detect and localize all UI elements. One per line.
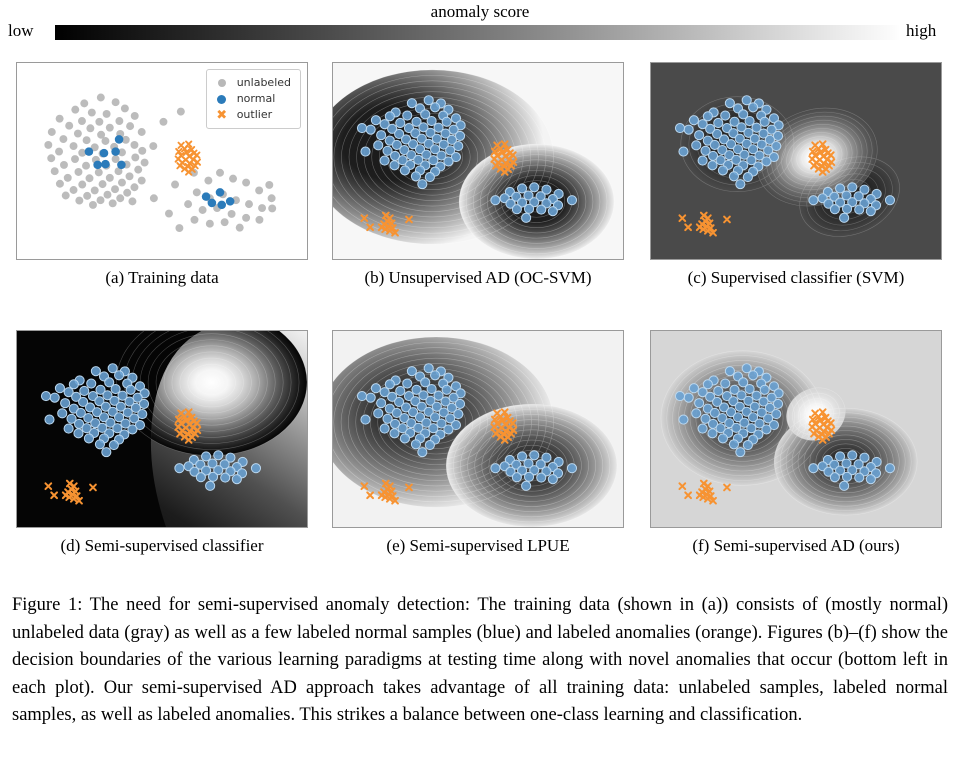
scatter-point (725, 367, 734, 376)
scatter-point (150, 194, 158, 202)
panel-d-semisupervised-classifier (16, 330, 308, 528)
scatter-point (675, 392, 684, 401)
scatter-point (427, 116, 436, 125)
scatter-point (216, 188, 225, 197)
scatter-point (524, 472, 533, 481)
scatter-point (524, 204, 533, 213)
scatter-point (228, 210, 236, 218)
scatter-point (208, 472, 217, 481)
scatter-point (885, 464, 894, 473)
scatter-point (99, 180, 107, 188)
scatter-point (71, 106, 79, 114)
scatter-point (116, 194, 124, 202)
scatter-point (80, 99, 88, 107)
scatter-point (103, 110, 111, 118)
scatter-point (115, 371, 124, 380)
scatter-point (128, 197, 136, 205)
scatter-point (855, 473, 864, 482)
scatter-point (65, 122, 73, 130)
scatter-point (689, 116, 698, 125)
scatter-point (232, 475, 241, 484)
scatter-point (128, 425, 137, 434)
scatter-point (45, 415, 54, 424)
scatter-point (866, 207, 875, 216)
scatter-point (442, 385, 451, 394)
scatter-point (255, 186, 263, 194)
scatter-point (80, 386, 89, 395)
scatter-point (385, 112, 394, 121)
scatter-point (390, 429, 399, 438)
legend-label-normal: normal (237, 91, 276, 107)
scatter-point (265, 181, 273, 189)
scatter-point (106, 124, 114, 132)
scatter-point (242, 179, 250, 187)
scatter-point (684, 125, 693, 134)
scatter-point (245, 200, 253, 208)
panel-b-caption: (b) Unsupervised AD (OC-SVM) (332, 266, 624, 290)
scatter-point (50, 393, 59, 402)
panel-row-top: unlabeled normal ✖ outlier (16, 62, 944, 307)
scatter-point (229, 175, 237, 183)
panel-b-plot (333, 63, 623, 259)
scatter-point (216, 169, 224, 177)
scatter-point (58, 409, 67, 418)
scatter-point (71, 155, 79, 163)
scatter-point (830, 473, 839, 482)
scatter-point (522, 213, 531, 222)
scatter-point (75, 168, 83, 176)
scatter-point (431, 103, 440, 112)
panel-row-bottom: (d) Semi-supervised classifier (e) Semi-… (16, 330, 944, 575)
scatter-point (721, 379, 730, 388)
scatter-point (442, 117, 451, 126)
scatter-point (708, 429, 717, 438)
scatter-point (762, 157, 771, 166)
scatter-point (809, 196, 818, 205)
scatter-point (149, 142, 157, 150)
scatter-point (236, 224, 244, 232)
scatter-point (760, 385, 769, 394)
scatter-point (548, 207, 557, 216)
scatter-point (840, 481, 849, 490)
scatter-point (106, 174, 114, 182)
scatter-point (111, 147, 120, 156)
scatter-point (56, 180, 64, 188)
scatter-point (725, 99, 734, 108)
scatter-point (380, 424, 389, 433)
panel-a-caption: (a) Training data (16, 266, 308, 290)
scatter-point (692, 141, 701, 150)
scatter-point (126, 172, 134, 180)
gray-circle-icon (214, 79, 230, 87)
scatter-point (380, 156, 389, 165)
scatter-point (78, 117, 86, 125)
scatter-point (138, 128, 146, 136)
scatter-point (760, 117, 769, 126)
scatter-point (548, 475, 557, 484)
scatter-point (102, 448, 111, 457)
scatter-point (93, 161, 102, 170)
scatter-point (111, 384, 120, 393)
scatter-point (109, 441, 118, 450)
scatter-point (745, 384, 754, 393)
panel-f-semisupervised-ad (650, 330, 942, 528)
scatter-point (537, 473, 546, 482)
scatter-point (74, 429, 83, 438)
scatter-point (111, 185, 119, 193)
panel-c-caption: (c) Supervised classifier (SVM) (650, 266, 942, 290)
colorbar-high-label: high (906, 21, 936, 41)
scatter-point (361, 147, 370, 156)
scatter-point (743, 173, 752, 182)
scatter-point (159, 118, 167, 126)
panel-e-caption: (e) Semi-supervised LPUE (332, 534, 624, 558)
scatter-point (698, 424, 707, 433)
scatter-point (698, 156, 707, 165)
scatter-point (100, 149, 109, 158)
scatter-point (842, 204, 851, 213)
scatter-point (112, 98, 120, 106)
scatter-point (522, 481, 531, 490)
scatter-point (745, 116, 754, 125)
scatter-point (82, 162, 90, 170)
scatter-point (407, 99, 416, 108)
scatter-point (199, 206, 207, 214)
scatter-point (684, 393, 693, 402)
figure-caption: Figure 1: The need for semi-supervised a… (12, 592, 948, 730)
scatter-point (866, 475, 875, 484)
scatter-point (123, 189, 131, 197)
scatter-point (121, 105, 129, 113)
orange-x-icon: ✖ (214, 109, 230, 122)
scatter-point (762, 425, 771, 434)
scatter-point (138, 147, 146, 155)
scatter-point (196, 473, 205, 482)
scatter-point (255, 216, 263, 224)
scatter-point (131, 112, 139, 120)
scatter-point (95, 440, 104, 449)
panel-e-plot (333, 331, 623, 527)
scatter-point (115, 117, 123, 125)
panel-f-caption: (f) Semi-supervised AD (ours) (650, 534, 942, 558)
scatter-point (97, 94, 105, 102)
scatter-point (59, 135, 67, 143)
scatter-point (69, 380, 78, 389)
panel-b-unsupervised-ad (332, 62, 624, 260)
scatter-point (117, 161, 126, 170)
scatter-point (86, 124, 94, 132)
scatter-point (130, 141, 138, 149)
scatter-point (221, 218, 229, 226)
scatter-point (126, 122, 134, 130)
scatter-point (840, 213, 849, 222)
scatter-point (718, 434, 727, 443)
scatter-point (55, 148, 63, 156)
scatter-point (357, 124, 366, 133)
legend-item-normal: normal (214, 91, 291, 107)
scatter-point (217, 201, 226, 210)
scatter-point (695, 131, 704, 140)
scatter-point (411, 172, 420, 181)
scatter-point (62, 192, 70, 200)
colorbar: anomaly score low high (0, 0, 960, 48)
scatter-point (87, 379, 96, 388)
legend: unlabeled normal ✖ outlier (206, 69, 301, 129)
scatter-point (418, 448, 427, 457)
scatter-point (89, 201, 97, 209)
scatter-point (141, 159, 149, 167)
scatter-point (56, 115, 64, 123)
scatter-point (848, 183, 857, 192)
scatter-point (848, 451, 857, 460)
scatter-point (714, 118, 723, 127)
scatter-point (171, 181, 179, 189)
legend-label-unlabeled: unlabeled (237, 75, 291, 91)
scatter-point (444, 157, 453, 166)
scatter-point (689, 384, 698, 393)
scatter-point (567, 464, 576, 473)
scatter-point (51, 167, 59, 175)
scatter-point (75, 197, 83, 205)
scatter-point (431, 371, 440, 380)
scatter-point (41, 392, 50, 401)
scatter-point (708, 161, 717, 170)
scatter-point (208, 199, 217, 208)
scatter-point (718, 166, 727, 175)
colorbar-title: anomaly score (0, 2, 960, 22)
scatter-point (427, 384, 436, 393)
scatter-point (64, 174, 72, 182)
scatter-point (134, 166, 142, 174)
colorbar-gradient (55, 25, 900, 40)
scatter-point (177, 108, 185, 116)
scatter-point (130, 183, 138, 191)
scatter-point (425, 441, 434, 450)
blue-circle-icon (214, 95, 230, 104)
scatter-point (703, 112, 712, 121)
scatter-point (193, 188, 201, 196)
scatter-point (743, 441, 752, 450)
scatter-point (138, 177, 146, 185)
scatter-point (361, 415, 370, 424)
scatter-point (377, 131, 386, 140)
scatter-point (374, 409, 383, 418)
scatter-point (258, 204, 266, 212)
scatter-point (411, 440, 420, 449)
scatter-point (184, 200, 192, 208)
scatter-point (88, 109, 96, 117)
scatter-point (396, 118, 405, 127)
scatter-point (74, 130, 82, 138)
scatter-point (444, 425, 453, 434)
scatter-point (206, 481, 215, 490)
panel-c-plot (651, 63, 941, 259)
panel-d-plot (17, 331, 307, 527)
scatter-point (70, 186, 78, 194)
scatter-point (749, 371, 758, 380)
scatter-point (242, 214, 250, 222)
scatter-point (251, 464, 260, 473)
scatter-point (101, 137, 109, 145)
scatter-point (512, 473, 521, 482)
panel-e-semisupervised-lpue (332, 330, 624, 528)
scatter-point (84, 434, 93, 443)
scatter-point (61, 399, 70, 408)
scatter-point (202, 192, 211, 201)
scatter-point (703, 380, 712, 389)
scatter-point (64, 424, 73, 433)
scatter-point (83, 136, 91, 144)
scatter-point (126, 385, 135, 394)
scatter-point (679, 415, 688, 424)
legend-item-outlier: ✖ outlier (214, 107, 291, 123)
scatter-point (400, 434, 409, 443)
scatter-point (47, 154, 55, 162)
panel-c-supervised-classifier (650, 62, 942, 260)
scatter-point (729, 440, 738, 449)
scatter-point (112, 155, 120, 163)
scatter-point (91, 186, 99, 194)
scatter-point (371, 116, 380, 125)
scatter-point (206, 220, 214, 228)
legend-item-unlabeled: unlabeled (214, 75, 291, 91)
scatter-point (104, 191, 112, 199)
scatter-point (357, 392, 366, 401)
scatter-point (366, 125, 375, 134)
scatter-point (855, 205, 864, 214)
scatter-point (268, 204, 276, 212)
panel-a-training-data: unlabeled normal ✖ outlier (16, 62, 308, 260)
scatter-point (714, 386, 723, 395)
scatter-point (78, 181, 86, 189)
scatter-point (101, 160, 110, 169)
scatter-point (390, 161, 399, 170)
scatter-point (842, 472, 851, 481)
panel-f-plot (651, 331, 941, 527)
scatter-point (809, 464, 818, 473)
scatter-point (695, 399, 704, 408)
scatter-point (675, 124, 684, 133)
scatter-point (736, 448, 745, 457)
scatter-point (221, 473, 230, 482)
scatter-point (425, 173, 434, 182)
scatter-point (60, 161, 68, 169)
scatter-point (366, 393, 375, 402)
scatter-point (175, 464, 184, 473)
scatter-point (396, 386, 405, 395)
scatter-point (214, 451, 223, 460)
scatter-point (204, 177, 212, 185)
scatter-point (95, 118, 103, 126)
scatter-point (418, 180, 427, 189)
scatter-point (55, 384, 64, 393)
scatter-point (115, 135, 124, 144)
scatter-point (48, 128, 56, 136)
scatter-point (530, 451, 539, 460)
scatter-point (191, 216, 199, 224)
legend-label-outlier: outlier (237, 107, 272, 123)
scatter-point (512, 205, 521, 214)
scatter-point (83, 192, 91, 200)
scatter-point (403, 111, 412, 120)
scatter-point (268, 194, 276, 202)
scatter-point (86, 174, 94, 182)
scatter-point (371, 384, 380, 393)
scatter-point (377, 399, 386, 408)
scatter-point (85, 147, 94, 156)
scatter-point (729, 172, 738, 181)
scatter-point (44, 141, 52, 149)
scatter-point (679, 147, 688, 156)
panel-d-caption: (d) Semi-supervised classifier (16, 534, 308, 558)
scatter-point (537, 205, 546, 214)
scatter-point (131, 154, 139, 162)
scatter-point (736, 180, 745, 189)
scatter-point (385, 380, 394, 389)
scatter-point (885, 196, 894, 205)
scatter-point (692, 409, 701, 418)
scatter-point (491, 464, 500, 473)
scatter-point (118, 179, 126, 187)
scatter-point (165, 210, 173, 218)
scatter-point (407, 367, 416, 376)
colorbar-low-label: low (8, 21, 34, 41)
scatter-point (830, 205, 839, 214)
scatter-point (567, 196, 576, 205)
scatter-point (749, 103, 758, 112)
scatter-point (97, 196, 105, 204)
scatter-point (530, 183, 539, 192)
scatter-point (95, 168, 103, 176)
scatter-point (91, 367, 100, 376)
scatter-point (400, 166, 409, 175)
scatter-point (491, 196, 500, 205)
scatter-point (226, 197, 235, 206)
scatter-point (175, 224, 183, 232)
scatter-point (403, 379, 412, 388)
scatter-point (109, 199, 117, 207)
scatter-point (70, 142, 78, 150)
scatter-point (374, 141, 383, 150)
scatter-point (721, 111, 730, 120)
